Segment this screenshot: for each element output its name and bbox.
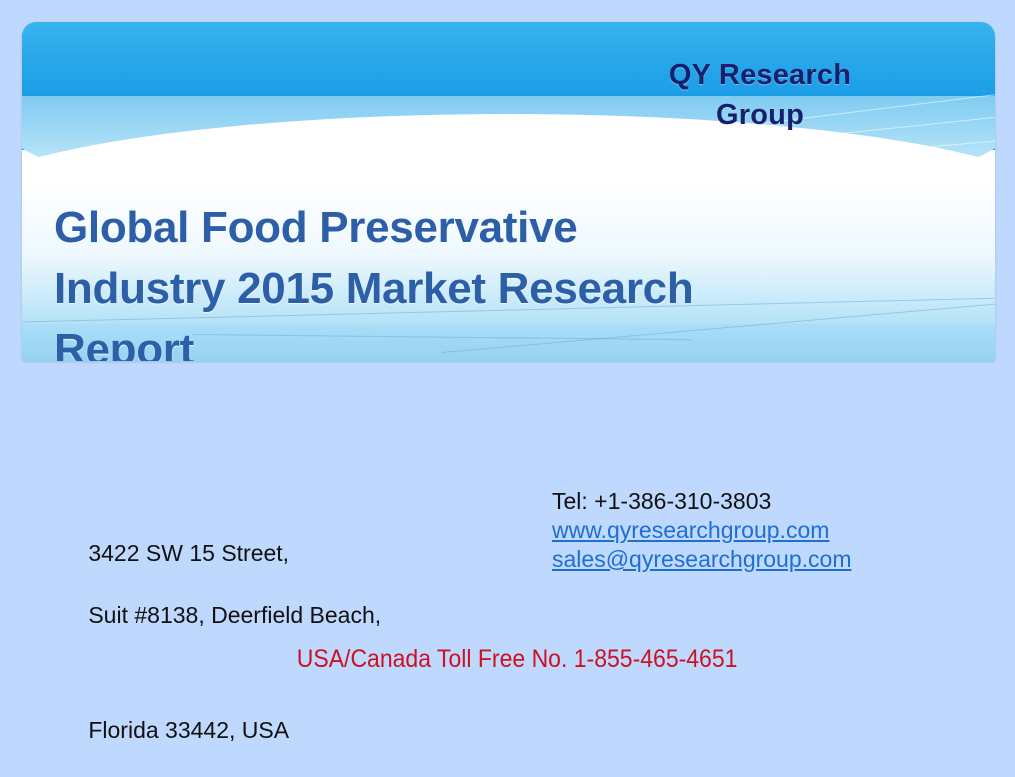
company-logo: QY Research Group — [610, 55, 910, 135]
telephone-line: Tel: +1-386-310-3803 — [552, 487, 851, 516]
header-banner: QY Research Group Global Food Preservati… — [22, 22, 995, 361]
contact-section: 3422 SW 15 Street, Suit #8138, Deerfield… — [0, 487, 1015, 720]
page-title-line-1: Global Food Preservative — [54, 197, 995, 258]
logo-line-1: QY Research — [610, 55, 910, 95]
page-title: Global Food Preservative Industry 2015 M… — [54, 197, 995, 361]
website-link[interactable]: www.qyresearchgroup.com — [552, 516, 851, 545]
report-cover-slide: QY Research Group Global Food Preservati… — [0, 0, 1015, 720]
address-line-2: Suit #8138, Deerfield Beach, — [88, 602, 381, 628]
address-line-1: 3422 SW 15 Street, — [88, 540, 289, 566]
toll-free-line: USA/Canada Toll Free No. 1-855-465-4651 — [41, 645, 984, 674]
office-address: 3422 SW 15 Street, Suit #8138, Deerfield… — [50, 507, 381, 777]
email-link[interactable]: sales@qyresearchgroup.com — [552, 545, 851, 574]
address-line-3: Florida 33442, USA — [88, 717, 289, 743]
logo-line-2: Group — [610, 95, 910, 135]
page-title-line-3: Report — [54, 319, 995, 361]
page-title-line-2: Industry 2015 Market Research — [54, 258, 995, 319]
contact-details: Tel: +1-386-310-3803 www.qyresearchgroup… — [552, 487, 851, 574]
